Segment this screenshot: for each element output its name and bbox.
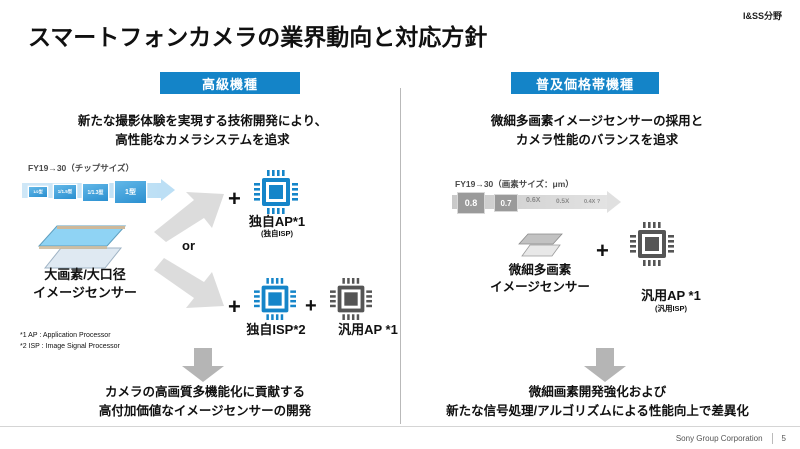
pixel-size-step-2: 0.7 <box>494 194 518 212</box>
footer-separator <box>772 433 773 444</box>
right-ap-sublabel: (汎用ISP) <box>612 304 730 313</box>
pixel-size-step-4: 0.5X <box>556 198 569 205</box>
left-conclusion: カメラの高画質多機能化に貢献する 高付加価値なイメージセンサーの開発 <box>35 383 375 421</box>
footnotes: *1 AP : Application Processor *2 ISP : I… <box>20 331 120 352</box>
slide-root: I&SS分野 スマートフォンカメラの業界動向と対応方針 高級機種 新たな撮影体験… <box>0 0 800 449</box>
left-conclusion-line1: カメラの高画質多機能化に貢献する <box>35 383 375 402</box>
plus-sign-d: + <box>596 240 609 262</box>
option-b-isp-label: 独自ISP*2 <box>222 322 330 338</box>
branch-arrow-down-icon <box>150 254 228 308</box>
footer-divider <box>0 426 800 427</box>
pixel-size-step-3: 0.6X <box>526 197 540 204</box>
image-sensor-stack-icon <box>35 222 131 270</box>
right-lead-line2: カメラ性能のバランスを追求 <box>412 131 782 150</box>
option-a-sublabel: (独自ISP) <box>224 229 330 238</box>
chip-size-step-4: 1型 <box>114 180 147 204</box>
right-sensor-caption: 微細多画素 イメージセンサー <box>470 262 610 296</box>
pixel-size-step-1: 0.8 <box>457 192 485 214</box>
footer-company: Sony Group Corporation <box>676 434 763 443</box>
footer: Sony Group Corporation 5 <box>676 433 786 444</box>
left-lead-text: 新たな撮影体験を実現する技術開発により、 高性能なカメラシステムを追求 <box>30 112 375 151</box>
option-a-label: 独自AP*1 <box>224 214 330 230</box>
right-sensor-caption-line1: 微細多画素 <box>470 262 610 279</box>
right-sensor-caption-line2: イメージセンサー <box>470 279 610 296</box>
page-title: スマートフォンカメラの業界動向と対応方針 <box>28 18 487 52</box>
left-column-badge: 高級機種 <box>160 72 300 94</box>
right-pixel-size-trend: 0.8 0.7 0.6X 0.5X 0.4X ? <box>452 192 642 212</box>
right-ap-label: 汎用AP *1 <box>612 288 730 304</box>
plus-sign-a: + <box>228 188 241 210</box>
down-arrow-right-icon <box>584 348 626 382</box>
right-conclusion-line2: 新たな信号処理/アルゴリズムによる性能向上で差異化 <box>405 402 790 421</box>
chip-size-step-2: 1/1.5型 <box>53 184 77 200</box>
right-lead-line1: 微細多画素イメージセンサーの採用と <box>412 112 782 131</box>
processor-chip-gray-general-ap-icon <box>630 222 674 266</box>
left-lead-line2: 高性能なカメラシステムを追求 <box>30 131 375 150</box>
left-sensor-caption: 大画素/大口径 イメージセンサー <box>10 266 160 301</box>
pixel-size-step-5: 0.4X ? <box>584 199 600 205</box>
branch-arrow-up-icon <box>150 192 228 244</box>
right-conclusion: 微細画素開発強化および 新たな信号処理/アルゴリズムによる性能向上で差異化 <box>405 383 790 421</box>
column-divider <box>400 88 401 424</box>
division-tag: I&SS分野 <box>743 9 782 22</box>
footnote-1: *1 AP : Application Processor <box>20 331 120 342</box>
right-trend-caption: FY19→30（画素サイズ：μm） <box>455 178 574 190</box>
chip-size-step-3: 1/1.3型 <box>82 183 109 202</box>
chip-size-step-1: 1/2型 <box>28 186 48 198</box>
right-column-badge: 普及価格帯機種 <box>511 72 659 94</box>
processor-chip-blue-icon <box>254 170 298 214</box>
processor-chip-blue-isp-icon <box>254 278 296 320</box>
footer-page-number: 5 <box>782 434 786 443</box>
left-sensor-caption-line1: 大画素/大口径 <box>10 266 160 284</box>
option-b-ap-label: 汎用AP *1 <box>316 322 420 338</box>
or-label: or <box>182 238 195 253</box>
processor-chip-gray-ap-icon <box>330 278 372 320</box>
right-conclusion-line1: 微細画素開発強化および <box>405 383 790 402</box>
small-image-sensor-stack-icon <box>517 232 565 258</box>
left-trend-caption: FY19→30（チップサイズ） <box>28 162 134 174</box>
left-sensor-caption-line2: イメージセンサー <box>10 284 160 302</box>
right-lead-text: 微細多画素イメージセンサーの採用と カメラ性能のバランスを追求 <box>412 112 782 151</box>
pixel-trend-arrow-tip-icon <box>607 191 621 213</box>
plus-sign-b: + <box>228 296 241 318</box>
down-arrow-left-icon <box>182 348 224 382</box>
footnote-2: *2 ISP : Image Signal Processor <box>20 342 120 353</box>
plus-sign-c: + <box>305 296 317 316</box>
left-lead-line1: 新たな撮影体験を実現する技術開発により、 <box>30 112 375 131</box>
left-conclusion-line2: 高付加価値なイメージセンサーの開発 <box>35 402 375 421</box>
